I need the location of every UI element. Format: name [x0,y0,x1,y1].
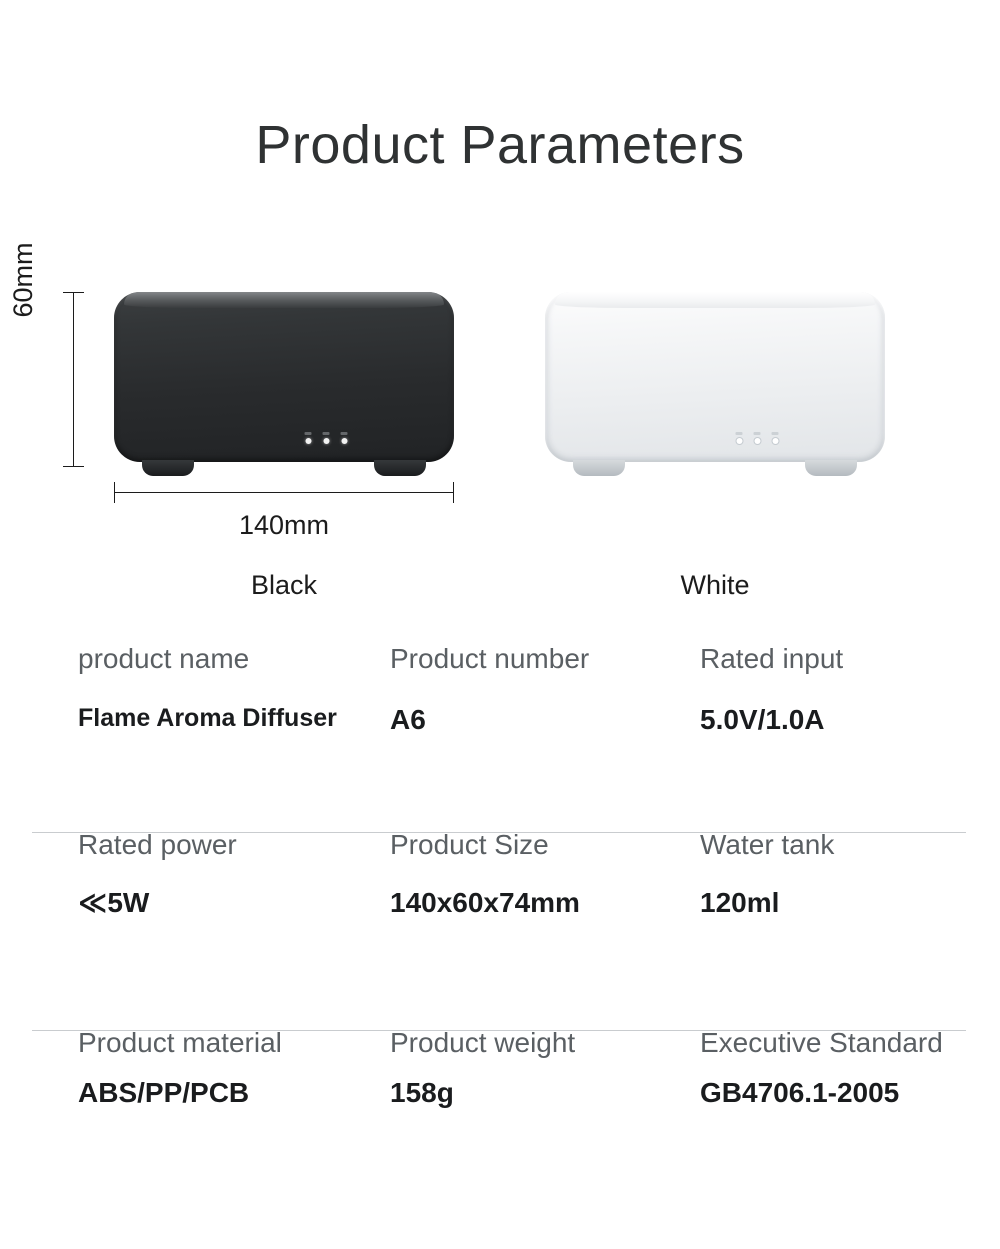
spec-label: Rated input [700,645,843,673]
spec-value: A6 [390,706,589,734]
spec-cell: Product Size 140x60x74mm [390,831,580,917]
indicator-led-group-black [305,432,348,444]
indicator-led [736,432,743,444]
device-body-black [114,292,454,462]
led-dot-icon [754,438,760,444]
width-dimension-line [114,492,454,493]
device-top-surface-black [124,292,444,308]
led-cap-icon [323,432,330,435]
indicator-led [772,432,779,444]
led-cap-icon [736,432,743,435]
spec-label: Product Size [390,831,580,859]
device-foot-left [142,460,194,476]
product-showcase: 60mm 140mm [0,0,1000,620]
spec-label: product name [78,645,337,673]
spec-label: Product number [390,645,589,673]
led-cap-icon [754,432,761,435]
spec-label: Water tank [700,831,834,859]
led-dot-icon [736,438,742,444]
spec-cell: Product material ABS/PP/PCB [78,1029,282,1107]
indicator-led-group-white [736,432,779,444]
device-body-white [545,292,885,462]
indicator-led [754,432,761,444]
spec-cell: Rated input 5.0V/1.0A [700,645,843,734]
indicator-led [341,432,348,444]
table-row: product name Flame Aroma Diffuser Produc… [0,645,1000,831]
led-cap-icon [305,432,312,435]
color-label-black: Black [114,570,454,601]
device-foot-right [805,460,857,476]
height-dimension-line [73,292,74,467]
device-top-surface-white [555,292,875,308]
spec-cell: product name Flame Aroma Diffuser [78,645,337,731]
led-dot-icon [772,438,778,444]
led-cap-icon [341,432,348,435]
spec-label: Executive Standard [700,1029,943,1057]
row-divider [32,1030,966,1031]
product-image-white [545,284,885,484]
device-foot-left [573,460,625,476]
color-label-white: White [545,570,885,601]
spec-label: Product material [78,1029,282,1057]
spec-value: 140x60x74mm [390,889,580,917]
product-image-black [114,284,454,484]
height-dimension-label: 60mm [8,200,39,360]
spec-cell: Rated power ≪5W [78,831,237,917]
spec-cell: Product number A6 [390,645,589,734]
led-dot-icon [305,438,311,444]
width-dimension-label: 140mm [114,510,454,541]
spec-value: ≪5W [78,889,237,917]
indicator-led [305,432,312,444]
table-row: Rated power ≪5W Product Size 140x60x74mm… [0,831,1000,1017]
spec-cell: Product weight 158g [390,1029,575,1107]
led-dot-icon [341,438,347,444]
spec-value: 120ml [700,889,834,917]
led-dot-icon [323,438,329,444]
spec-label: Rated power [78,831,237,859]
indicator-led [323,432,330,444]
spec-cell: Executive Standard GB4706.1-2005 [700,1029,943,1107]
spec-value: 158g [390,1079,575,1107]
spec-value: ABS/PP/PCB [78,1079,282,1107]
table-row: Product material ABS/PP/PCB Product weig… [0,1029,1000,1215]
spec-value: 5.0V/1.0A [700,706,843,734]
spec-label: Product weight [390,1029,575,1057]
spec-value: GB4706.1-2005 [700,1079,943,1107]
spec-value: Flame Aroma Diffuser [78,706,337,731]
led-cap-icon [772,432,779,435]
device-foot-right [374,460,426,476]
specification-table: product name Flame Aroma Diffuser Produc… [0,645,1000,1215]
spec-cell: Water tank 120ml [700,831,834,917]
